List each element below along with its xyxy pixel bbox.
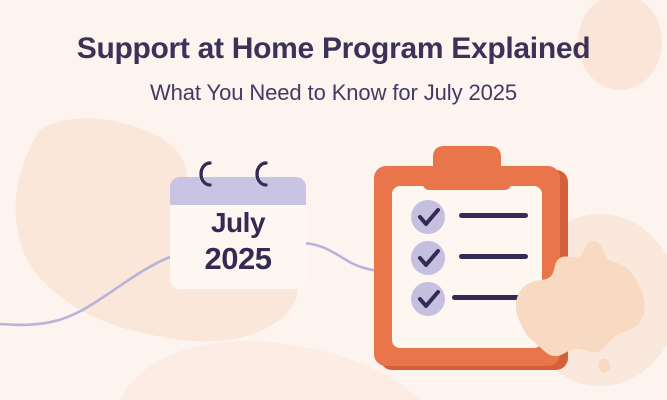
clipboard-clip-bar <box>423 168 511 190</box>
check-circle <box>411 200 445 234</box>
illustration-layer <box>0 0 667 400</box>
task-line <box>459 213 528 218</box>
tasmania-silhouette <box>598 359 610 373</box>
task-line <box>452 295 528 300</box>
promo-banner: Support at Home Program Explained What Y… <box>0 0 667 400</box>
clipboard-clip-top <box>433 146 501 168</box>
check-circle <box>411 241 445 275</box>
check-circle <box>411 282 445 316</box>
calendar-header-band <box>170 177 306 205</box>
task-line <box>459 254 528 259</box>
calendar-graphic <box>170 163 306 289</box>
